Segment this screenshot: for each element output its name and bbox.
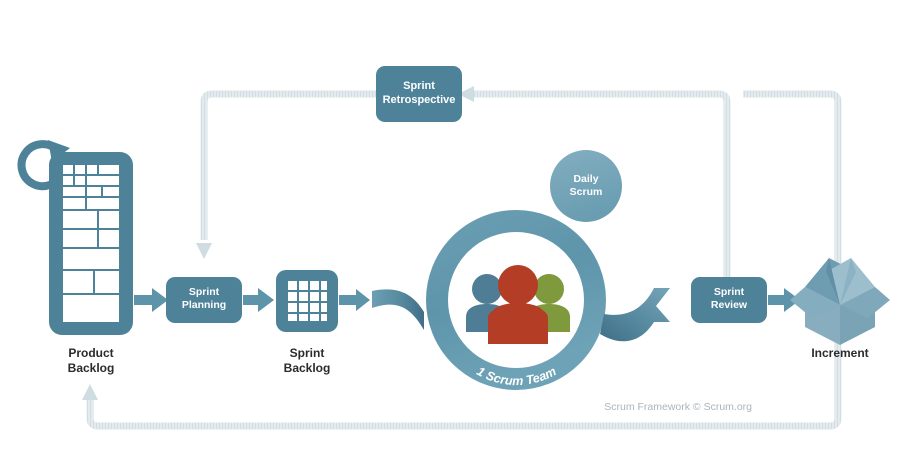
- sprint-review-label-line2: Review: [711, 299, 748, 311]
- three-people-icon: [466, 265, 570, 344]
- sprint-backlog[interactable]: Sprint Backlog: [276, 270, 338, 375]
- sprint-backlog-label-line1: Sprint: [290, 346, 325, 360]
- increment-label: Increment: [811, 346, 868, 360]
- backlog-grid-icon: [63, 165, 119, 322]
- arrowhead-to-planning: [196, 243, 212, 259]
- scrum-framework-diagram: Sprint Retrospective: [0, 0, 897, 463]
- connector-backlog-to-planning: [134, 288, 168, 312]
- grid-icon: [288, 281, 327, 321]
- team-member-center-head: [498, 265, 538, 305]
- daily-scrum-label-line1: Daily: [573, 173, 598, 185]
- product-backlog[interactable]: Product Backlog: [22, 140, 133, 375]
- daily-scrum[interactable]: Daily Scrum: [550, 150, 622, 222]
- sprint-retrospective-label-line2: Retrospective: [383, 94, 456, 106]
- sprint-retrospective-label-line1: Sprint: [403, 80, 435, 92]
- sprint-review[interactable]: Sprint Review: [691, 277, 767, 323]
- connector-planning-to-sprint-backlog: [243, 288, 274, 312]
- sprint-backlog-label-line2: Backlog: [284, 361, 331, 375]
- sprint-planning-label-line1: Sprint: [189, 286, 220, 298]
- product-backlog-label-line2: Backlog: [68, 361, 115, 375]
- credit-text: Scrum Framework © Scrum.org: [604, 401, 752, 413]
- daily-scrum-label-line2: Scrum: [570, 186, 603, 198]
- sprint-retrospective[interactable]: Sprint Retrospective: [376, 66, 462, 122]
- increment[interactable]: Increment: [790, 258, 890, 360]
- connector-retrospective-to-planning: [196, 94, 376, 259]
- sprint-planning[interactable]: Sprint Planning: [166, 277, 242, 323]
- team-member-left-head: [472, 274, 502, 304]
- diagram-canvas: Sprint Retrospective: [0, 0, 897, 463]
- connector-sprint-backlog-exit: [339, 289, 370, 311]
- team-member-right-head: [534, 274, 564, 304]
- open-box-icon: [790, 258, 890, 345]
- sprint-review-label-line1: Sprint: [714, 286, 745, 298]
- connector-sprint-to-review: [600, 288, 670, 341]
- product-backlog-label-line1: Product: [68, 346, 113, 360]
- sprint-planning-label-line2: Planning: [182, 299, 226, 311]
- connector-sprint-backlog-to-sprint: [372, 289, 424, 330]
- arrowhead-to-product-backlog: [82, 384, 98, 400]
